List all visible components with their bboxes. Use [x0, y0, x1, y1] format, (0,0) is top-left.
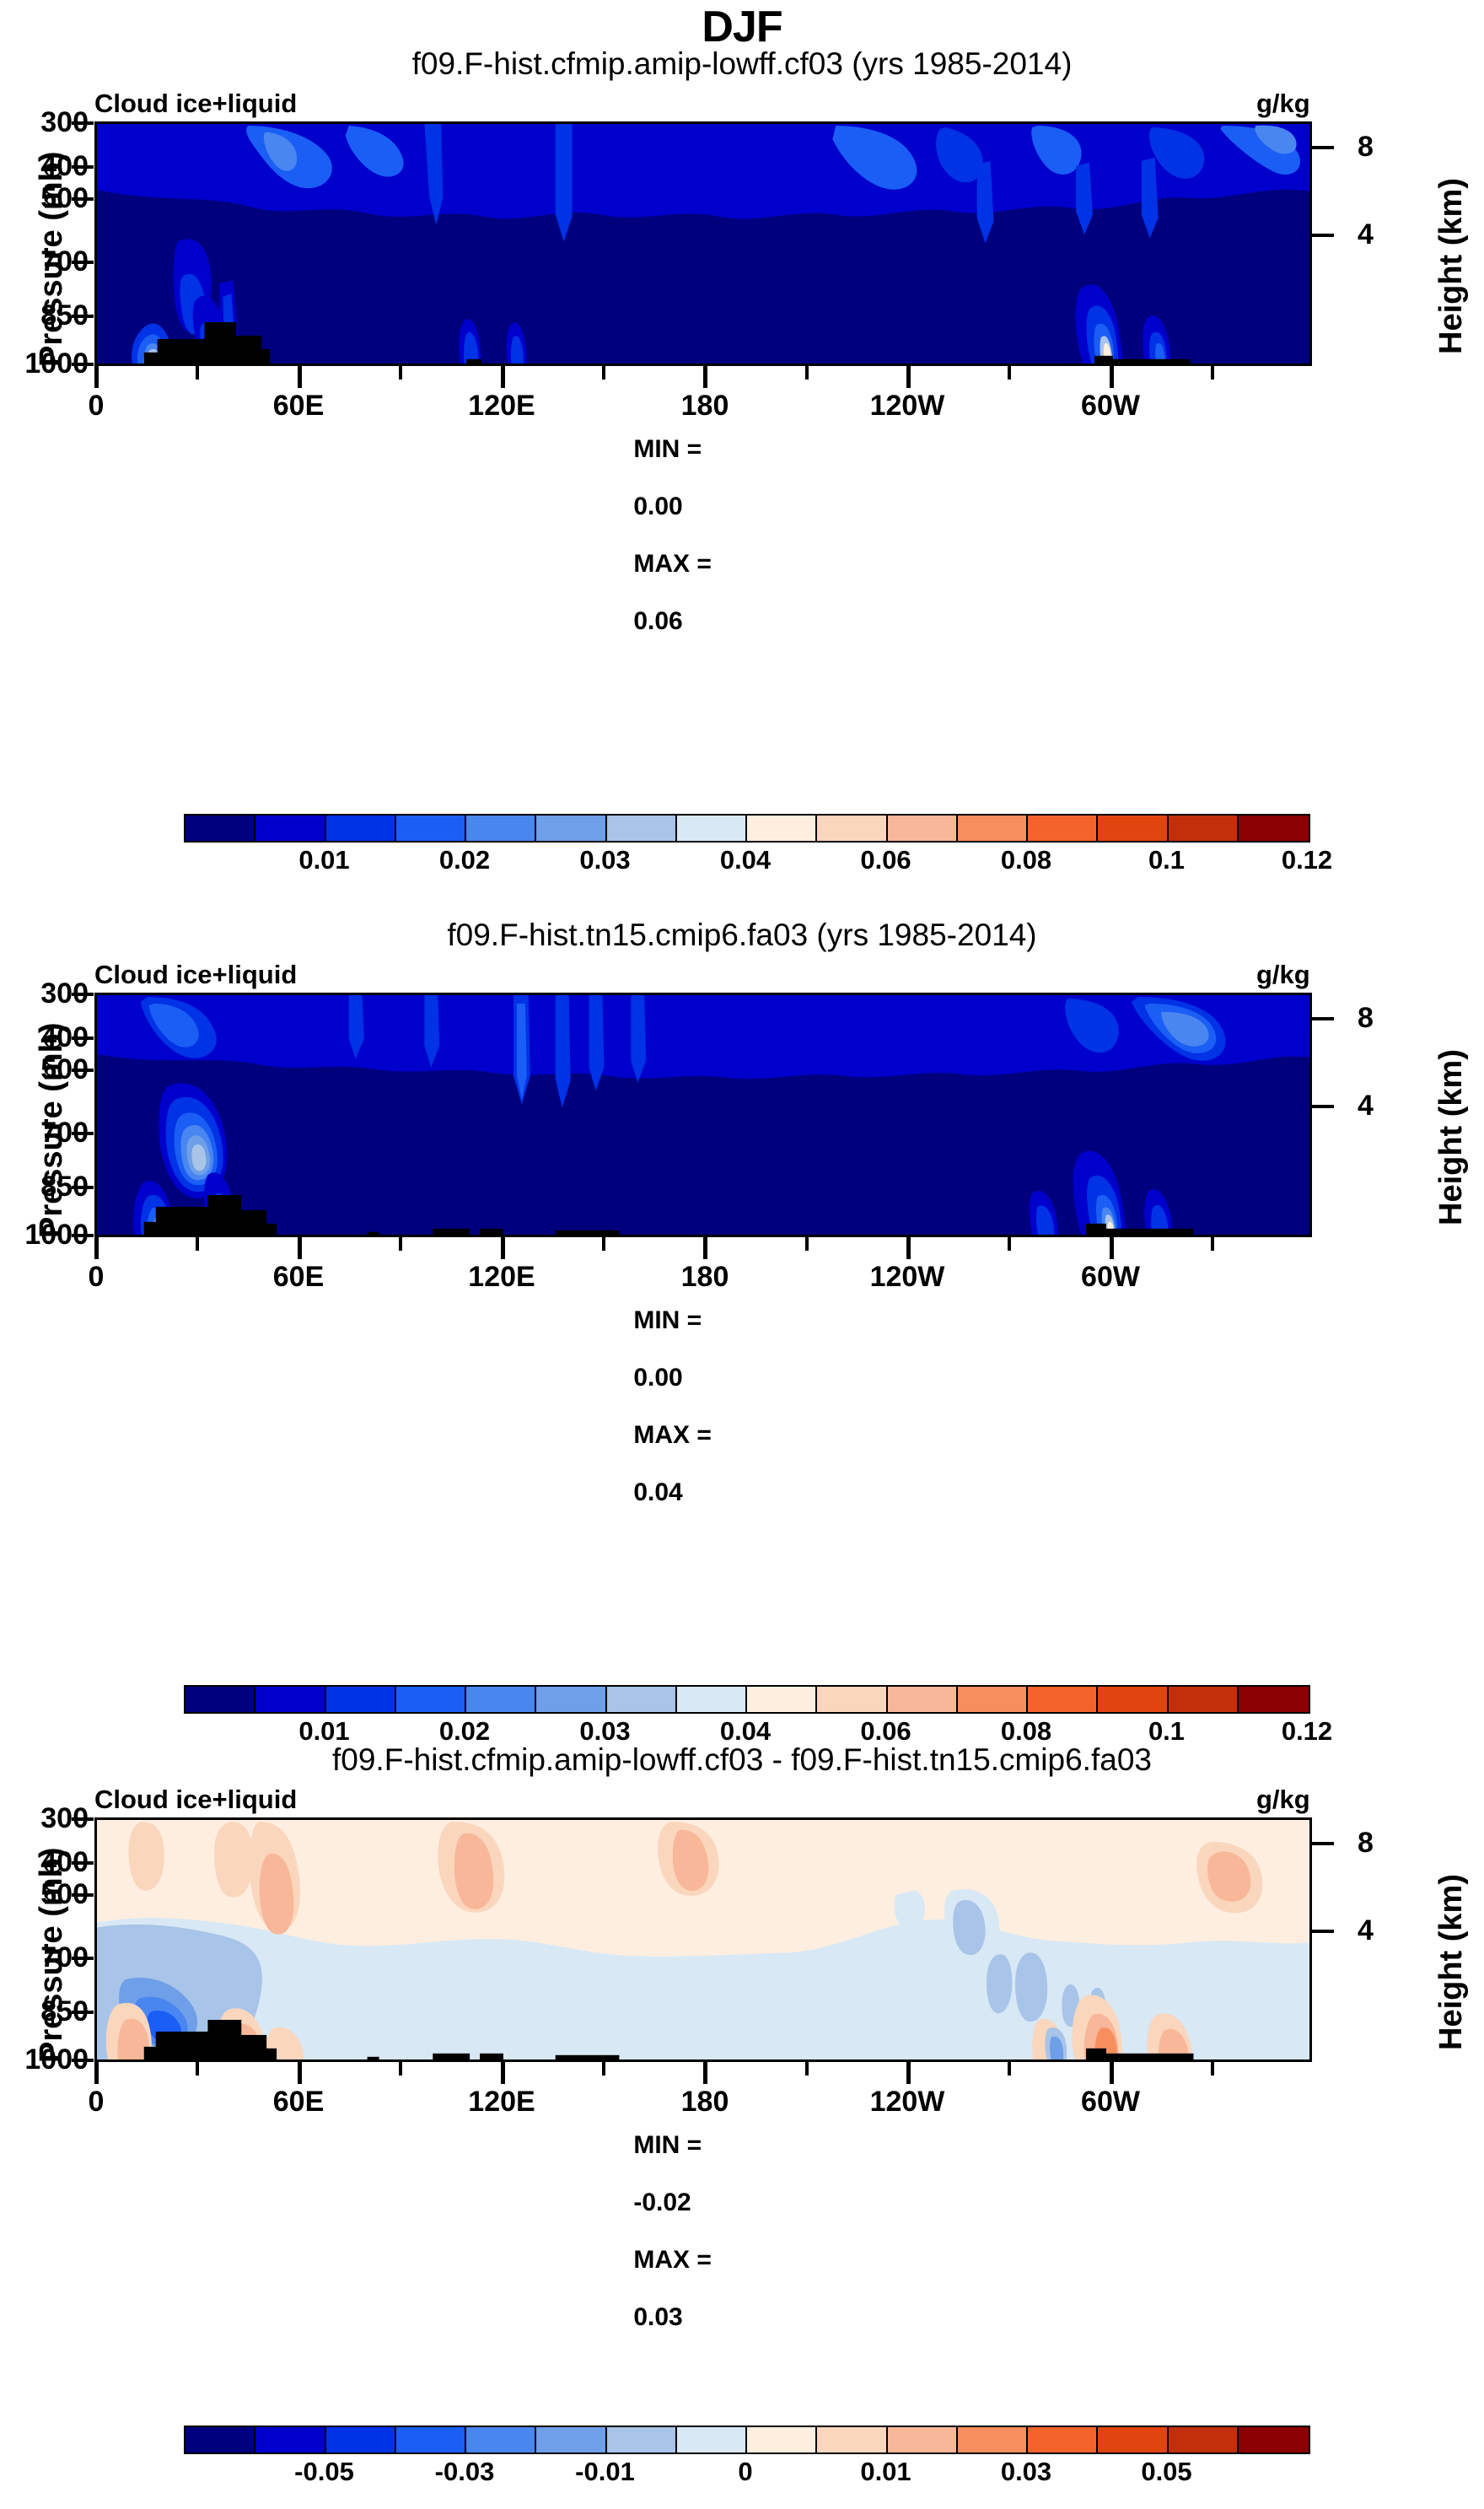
colorbar-cell [817, 2427, 887, 2452]
colorbar-cell [607, 1687, 677, 1712]
colorbar-cell [396, 2427, 466, 2452]
colorbar-cell [677, 1687, 747, 1712]
colorbar-cell [1098, 1687, 1168, 1712]
colorbar-cell [396, 816, 466, 841]
panel-2-min-value: 0.00 [633, 1364, 682, 1392]
panel-2-xtick-major [1110, 1237, 1114, 1259]
colorbar-cell [958, 2427, 1028, 2452]
panel-3-xlabel-120E: 120E [443, 2086, 561, 2119]
colorbar-tick-label: 0.03 [538, 845, 673, 875]
panel-3-min-label: MIN = [633, 2131, 702, 2159]
colorbar-cell [1169, 816, 1239, 841]
panel-1-y2-axis-title: Height (km) [1433, 178, 1470, 354]
panel-2-min-label: MIN = [633, 1306, 702, 1334]
panel-2-y2tick-mark [1312, 1105, 1334, 1108]
panel-2-xtick-minor [805, 1237, 809, 1251]
colorbar-cell [326, 1687, 396, 1712]
panel-2-xtick-minor [1008, 1237, 1011, 1251]
panel-1-xtick-minor [399, 366, 402, 380]
panel-1-xlabel-120W: 120W [848, 390, 966, 423]
panel-1-title: f09.F-hist.cfmip.amip-lowff.cf03 (yrs 19… [0, 46, 1484, 82]
colorbar-cell [677, 2427, 747, 2452]
panel-3-ytick-mark [72, 1893, 94, 1897]
panel-3-height-4: 4 [1358, 1914, 1433, 1947]
panel-2-xtick-major [906, 1237, 911, 1259]
panel-2-plot-area[interactable] [94, 993, 1312, 1237]
colorbar-tick-label: 0.08 [959, 845, 1094, 875]
colorbar-tick-label: 0.02 [397, 845, 532, 875]
colorbar-cell [1098, 816, 1168, 841]
panel-2-xtick-minor [196, 1237, 199, 1251]
colorbar-cell [817, 1687, 887, 1712]
panel-1-plot-area[interactable] [94, 121, 1312, 366]
panel-1-min-value: 0.00 [633, 493, 682, 520]
colorbar-cell [255, 1687, 325, 1712]
colorbar-cell [747, 1687, 817, 1712]
panel-1-xtick-minor [196, 366, 199, 380]
panel-3-y2tick-mark [1312, 1842, 1334, 1845]
panel-1-min-label: MIN = [633, 435, 702, 463]
colorbar-tick-label: 0.04 [678, 845, 813, 875]
colorbar-cell [958, 816, 1028, 841]
panel-3-ytick-mark [72, 1861, 94, 1865]
panel-3-variable-label: Cloud ice+liquid [94, 1785, 297, 1815]
panel-3-xtick-minor [1008, 2062, 1011, 2076]
panel-2-ytick-mark [72, 1036, 94, 1040]
panel-2-xtick-minor [1211, 1237, 1214, 1251]
colorbar-cell [396, 1687, 466, 1712]
colorbar-cell [888, 816, 958, 841]
panel-1-xtick-major [703, 366, 707, 388]
colorbar-cell [1239, 1687, 1309, 1712]
panel-2-y2tick-mark [1312, 1017, 1334, 1020]
panel-1-xtick-major [94, 366, 99, 388]
panel-3-units-label: g/kg [1256, 1785, 1310, 1815]
panel-3-minmax: MIN = -0.02 MAX = 0.03 [605, 2102, 712, 2361]
panel-1-max-value: 0.06 [633, 607, 682, 635]
panel-2-minmax: MIN = 0.00 MAX = 0.04 [605, 1278, 712, 1536]
panel-1-xtick-major [906, 366, 911, 388]
panel-2-xtick-major [501, 1237, 505, 1259]
panel-2-xlabel-0: 0 [37, 1261, 155, 1294]
colorbar-tick-label: -0.05 [257, 2457, 392, 2487]
panel-1-xtick-minor [1008, 366, 1011, 380]
panel-2-height-4: 4 [1358, 1090, 1433, 1123]
panel-1-contour-field [97, 124, 1309, 366]
panel-2-xtick-major [703, 1237, 707, 1259]
panel-3-difference-field [97, 1820, 1309, 2062]
colorbar-cell [1169, 2427, 1239, 2452]
panel-2-xtick-minor [602, 1237, 605, 1251]
colorbar-cell [888, 1687, 958, 1712]
panel-3-xlabel-60W: 60W [1051, 2086, 1169, 2119]
panel-2-contour-field [97, 995, 1309, 1237]
colorbar-cell [255, 816, 325, 841]
colorbar-tick-label: -0.03 [397, 2457, 532, 2487]
colorbar-cell [747, 816, 817, 841]
colorbar-cell [1028, 816, 1098, 841]
colorbar-cell [185, 816, 255, 841]
panel-1-minmax: MIN = 0.00 MAX = 0.06 [605, 407, 712, 665]
panel-2-variable-label: Cloud ice+liquid [94, 960, 297, 990]
panel-2-units-label: g/kg [1256, 960, 1310, 990]
colorbar-tick-label: 0 [678, 2457, 813, 2487]
panel-3-xtick-major [298, 2062, 302, 2084]
panel-3-xtick-minor [196, 2062, 199, 2076]
panel-2-ytick-mark [72, 1234, 94, 1237]
panel-1-variable-label: Cloud ice+liquid [94, 89, 297, 119]
panel-1-colorbar-labels: 0.010.020.030.040.060.080.10.12 [184, 845, 1307, 879]
panel-3-ytick-mark [72, 1957, 94, 1960]
panel-1-height-4: 4 [1358, 218, 1433, 251]
panel-2-xlabel-60E: 60E [239, 1261, 358, 1294]
panel-3-min-value: -0.02 [633, 2189, 691, 2216]
panel-1-y2tick-mark [1312, 234, 1334, 237]
colorbar-cell [958, 1687, 1028, 1712]
panel-3-y2-axis-title: Height (km) [1433, 1874, 1470, 2050]
colorbar-cell [607, 816, 677, 841]
panel-1-xtick-major [501, 366, 505, 388]
panel-2-title: f09.F-hist.tn15.cmip6.fa03 (yrs 1985-201… [0, 918, 1484, 953]
colorbar-cell [536, 1687, 606, 1712]
colorbar-cell [747, 2427, 817, 2452]
panel-1-xlabel-60E: 60E [239, 390, 358, 423]
panel-3-xtick-minor [805, 2062, 809, 2076]
colorbar-tick-label: -0.01 [538, 2457, 673, 2487]
colorbar-cell [326, 816, 396, 841]
colorbar-tick-label: 0.03 [959, 2457, 1094, 2487]
panel-3-title: f09.F-hist.cfmip.amip-lowff.cf03 - f09.F… [0, 1742, 1484, 1778]
panel-3-xlabel-120W: 120W [848, 2086, 966, 2119]
panel-2-max-label: MAX = [633, 1421, 712, 1449]
colorbar-cell [888, 2427, 958, 2452]
panel-1-xlabel-120E: 120E [443, 390, 561, 423]
panel-3-xtick-minor [602, 2062, 605, 2076]
colorbar-tick-label: 0.1 [1100, 845, 1234, 875]
panel-3-xlabel-60E: 60E [239, 2086, 358, 2119]
panel-2-ytick-mark [72, 1186, 94, 1189]
panel-3-xtick-major [906, 2062, 911, 2084]
colorbar-cell [466, 816, 536, 841]
panel-2-xtick-major [94, 1237, 99, 1259]
panel-1-xtick-major [1110, 366, 1114, 388]
panel-1-colorbar[interactable] [184, 814, 1310, 843]
panel-1-xtick-minor [602, 366, 605, 380]
panel-1-ytick-mark [72, 363, 94, 366]
panel-2-max-value: 0.04 [633, 1478, 682, 1506]
panel-2-xlabel-120W: 120W [848, 1261, 966, 1294]
panel-1-xtick-major [298, 366, 302, 388]
colorbar-tick-label: 0.06 [819, 845, 954, 875]
panel-1-xlabel-60W: 60W [1051, 390, 1169, 423]
panel-2-colorbar[interactable] [184, 1685, 1310, 1714]
panel-1-ytick-mark [72, 315, 94, 318]
panel-2-xlabel-120E: 120E [443, 1261, 561, 1294]
panel-3-height-8: 8 [1358, 1827, 1433, 1860]
panel-2-height-8: 8 [1358, 1002, 1433, 1035]
panel-2-xlabel-60W: 60W [1051, 1261, 1169, 1294]
figure-main-title: DJF [0, 2, 1484, 52]
panel-1-height-8: 8 [1358, 131, 1433, 164]
panel-3-xtick-major [501, 2062, 505, 2084]
panel-3-xlabel-0: 0 [37, 2086, 155, 2119]
panel-1-xtick-minor [1211, 366, 1214, 380]
panel-1-ytick-mark [72, 261, 94, 264]
panel-3-y2tick-mark [1312, 1930, 1334, 1933]
panel-1-ytick-mark [72, 197, 94, 201]
colorbar-cell [466, 1687, 536, 1712]
panel-2-ytick-mark [72, 993, 94, 996]
panel-3-max-label: MAX = [633, 2246, 712, 2274]
panel-1-xlabel-0: 0 [37, 390, 155, 423]
panel-3-ytick-mark [72, 2059, 94, 2062]
panel-1-ytick-mark [72, 165, 94, 169]
colorbar-tick-label: 0.05 [1100, 2457, 1234, 2487]
colorbar-cell [185, 2427, 255, 2452]
colorbar-cell [817, 816, 887, 841]
panel-3-xtick-major [1110, 2062, 1114, 2084]
colorbar-cell [1028, 2427, 1098, 2452]
colorbar-cell [536, 816, 606, 841]
panel-3-xtick-major [94, 2062, 99, 2084]
panel-3-xtick-major [703, 2062, 707, 2084]
colorbar-tick-label: 0.12 [1239, 845, 1374, 875]
panel-3-max-value: 0.03 [633, 2303, 682, 2331]
panel-1-ytick-mark [72, 121, 94, 125]
panel-3-xtick-minor [399, 2062, 402, 2076]
panel-3-plot-area[interactable] [94, 1817, 1312, 2062]
colorbar-cell [677, 816, 747, 841]
panel-2-ytick-mark [72, 1132, 94, 1135]
panel-2-y2-axis-title: Height (km) [1433, 1049, 1470, 1225]
panel-2-xtick-minor [399, 1237, 402, 1251]
panel-3-ytick-mark [72, 1817, 94, 1821]
colorbar-cell [1098, 2427, 1168, 2452]
panel-3-ytick-mark [72, 2011, 94, 2014]
colorbar-cell [1169, 1687, 1239, 1712]
colorbar-cell [185, 1687, 255, 1712]
colorbar-cell [1239, 2427, 1309, 2452]
panel-1-xtick-minor [805, 366, 809, 380]
colorbar-cell [607, 2427, 677, 2452]
colorbar-cell [536, 2427, 606, 2452]
panel-3-xtick-minor [1211, 2062, 1214, 2076]
panel-3-colorbar-labels: -0.05-0.03-0.0100.010.030.05 [184, 2457, 1307, 2490]
panel-1-y2tick-mark [1312, 146, 1334, 149]
panel-2-xtick-major [298, 1237, 302, 1259]
colorbar-tick-label: 0.01 [819, 2457, 954, 2487]
colorbar-cell [466, 2427, 536, 2452]
colorbar-cell [326, 2427, 396, 2452]
panel-1-max-label: MAX = [633, 550, 712, 578]
colorbar-tick-label: 0.01 [257, 845, 392, 875]
colorbar-cell [255, 2427, 325, 2452]
panel-2-ytick-mark [72, 1069, 94, 1072]
colorbar-cell [1239, 816, 1309, 841]
panel-1-units-label: g/kg [1256, 89, 1310, 119]
panel-3-colorbar[interactable] [184, 2426, 1310, 2454]
colorbar-cell [1028, 1687, 1098, 1712]
